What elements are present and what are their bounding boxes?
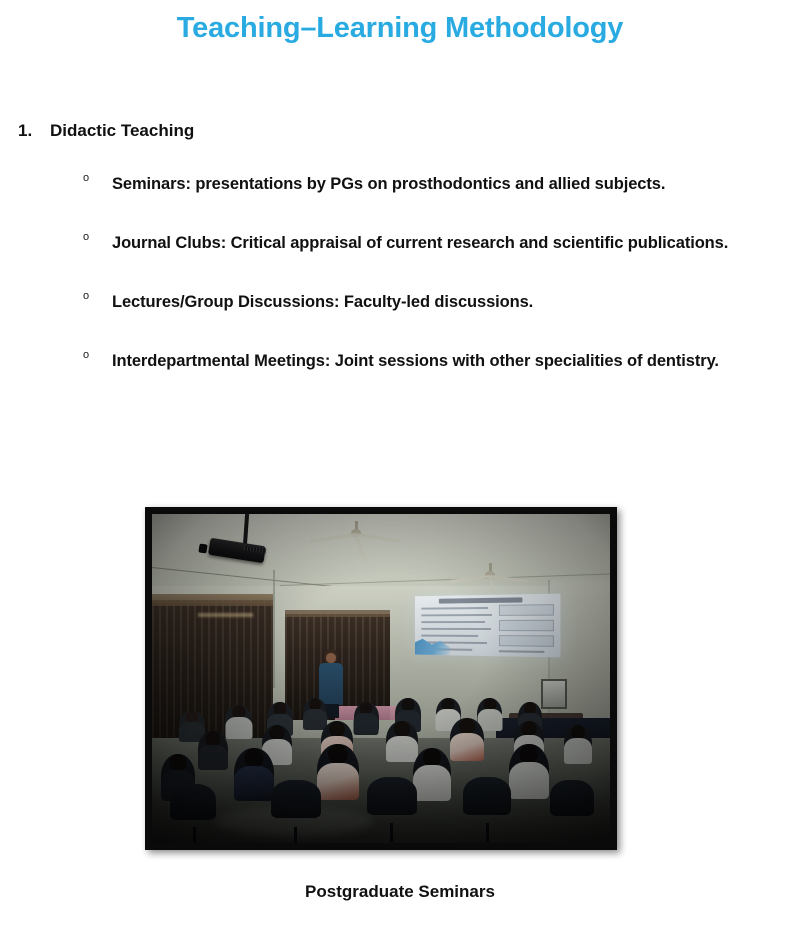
audience-member [317, 744, 359, 799]
chair [367, 777, 417, 815]
audience-member [234, 748, 274, 800]
slide-table-column-right [499, 604, 554, 650]
figure-caption: Postgraduate Seminars [0, 882, 800, 902]
slide-text-column-left [421, 607, 494, 650]
audience-member [413, 748, 451, 800]
circle-bullet-icon: o [78, 222, 112, 252]
list-item-text: Lectures/Group Discussions: Faculty-led … [112, 281, 778, 324]
presenter-face [326, 653, 336, 663]
list-item: o Interdepartmental Meetings: Joint sess… [78, 340, 778, 383]
chair-leg [390, 823, 393, 842]
slide-title-bar [439, 597, 523, 603]
list-item-text: Journal Clubs: Critical appraisal of cur… [112, 222, 778, 265]
audience-torso [386, 736, 418, 762]
audience-torso [225, 717, 252, 739]
audience-member [509, 744, 549, 798]
audience-torso [509, 762, 549, 799]
document-page: Teaching–Learning Methodology 1. Didacti… [0, 0, 800, 929]
audience-member [354, 702, 379, 734]
circle-bullet-icon: o [78, 163, 112, 193]
audience-torso [354, 713, 379, 735]
numbered-heading-1: 1. Didactic Teaching [18, 121, 194, 141]
seminar-photo-frame [145, 507, 617, 850]
audience-member [225, 705, 252, 738]
audience-torso [450, 733, 484, 761]
curtain-light-gap [198, 613, 253, 617]
projection-screen [415, 593, 560, 657]
chair [550, 780, 594, 816]
chair-leg [486, 823, 489, 842]
chair [170, 784, 216, 820]
audience-torso [564, 738, 592, 764]
seminar-photo [152, 514, 610, 843]
audience-member [303, 698, 327, 729]
audience-torso [234, 766, 274, 801]
chair-leg [193, 827, 196, 843]
chair-leg [294, 827, 297, 843]
wall-seam-vertical [273, 570, 275, 688]
audience-member [198, 731, 228, 769]
list-item-text: Seminars: presentations by PGs on prosth… [112, 163, 778, 206]
list-item: o Journal Clubs: Critical appraisal of c… [78, 222, 778, 265]
circle-bullet-icon: o [78, 281, 112, 311]
circle-bullet-icon: o [78, 340, 112, 370]
audience-torso [317, 763, 359, 800]
audience-member [450, 718, 484, 760]
projector-lens [199, 543, 208, 553]
audience-torso [198, 745, 228, 770]
list-item-text: Interdepartmental Meetings: Joint sessio… [112, 340, 778, 383]
chair [271, 780, 321, 818]
list-item: o Seminars: presentations by PGs on pros… [78, 163, 778, 206]
audience-head [328, 744, 348, 765]
chair [463, 777, 511, 815]
section-heading-label: Didactic Teaching [50, 121, 194, 141]
audience-torso [413, 765, 451, 801]
list-number-marker: 1. [18, 121, 50, 141]
audience-head [245, 748, 264, 768]
audience-member [564, 725, 592, 763]
page-title: Teaching–Learning Methodology [0, 12, 800, 45]
list-item: o Lectures/Group Discussions: Faculty-le… [78, 281, 778, 324]
presenter-body [319, 663, 343, 705]
bullet-list: o Seminars: presentations by PGs on pros… [78, 163, 778, 399]
curtain-left [152, 600, 273, 738]
audience-head [520, 744, 539, 764]
wall-notice-frame [541, 679, 567, 709]
audience-member [386, 721, 418, 761]
